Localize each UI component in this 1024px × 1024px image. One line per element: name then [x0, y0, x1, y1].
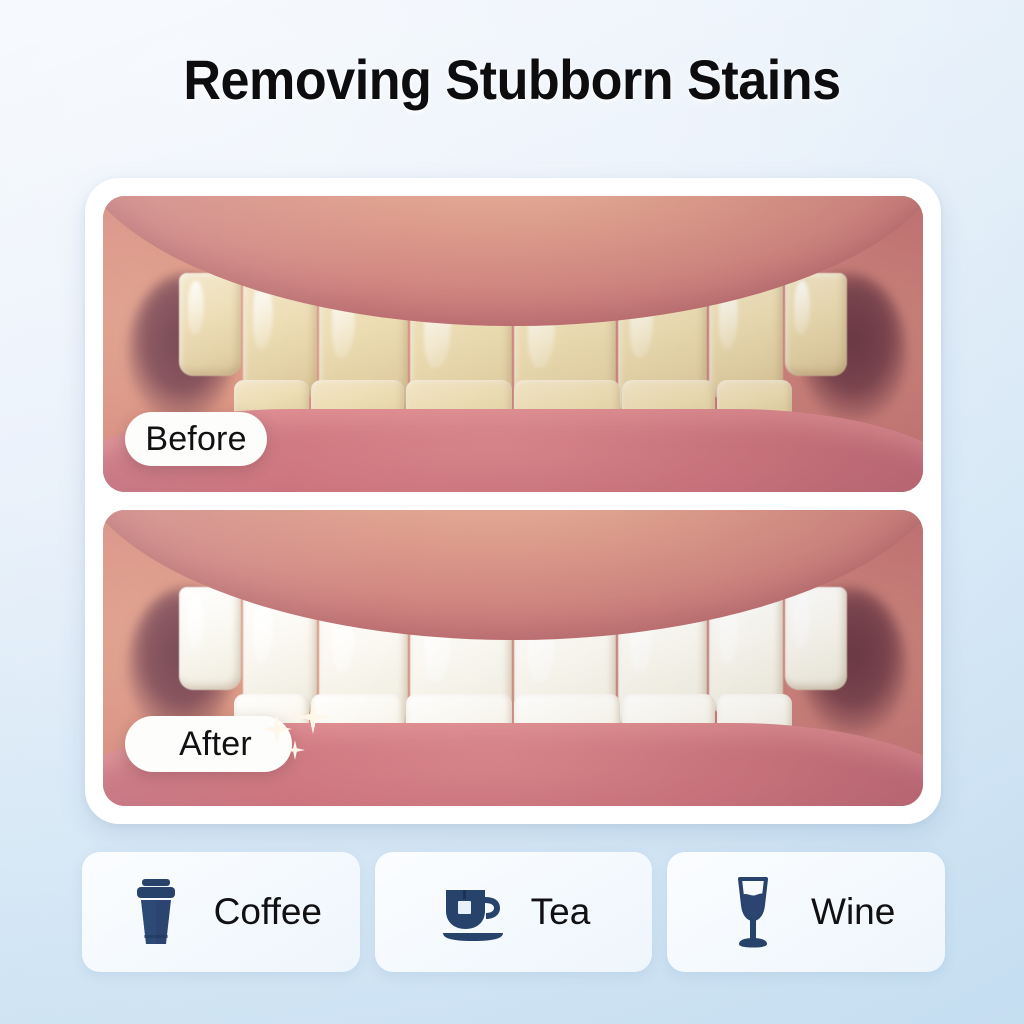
poster-canvas: Removing Stubborn Stains	[0, 0, 1024, 1024]
stain-source-chip-tea[interactable]: Tea	[375, 852, 653, 972]
tooth-shine	[794, 595, 810, 648]
stain-source-chip-wine[interactable]: Wine	[667, 852, 945, 972]
after-label-pill: After	[125, 716, 292, 772]
stain-source-chip-coffee[interactable]: Coffee	[82, 852, 360, 972]
coffee-cup-icon	[120, 874, 192, 950]
page-title: Removing Stubborn Stains	[36, 48, 988, 112]
wine-glass-icon	[717, 874, 789, 950]
stain-source-label: Wine	[811, 891, 895, 933]
tooth-shine	[794, 281, 810, 334]
tooth	[179, 273, 240, 376]
after-label-text: After	[179, 725, 252, 764]
before-label-text: Before	[145, 420, 246, 459]
tooth	[179, 587, 240, 690]
stain-source-label: Coffee	[214, 891, 322, 933]
tooth	[785, 587, 846, 690]
tooth-shine	[188, 595, 204, 648]
stain-sources-row: Coffee Tea	[82, 852, 945, 972]
before-label-pill: Before	[125, 412, 267, 466]
teacup-saucer-icon	[437, 874, 509, 950]
tooth	[785, 273, 846, 376]
stain-source-label: Tea	[531, 891, 591, 933]
tooth-shine	[188, 281, 204, 334]
